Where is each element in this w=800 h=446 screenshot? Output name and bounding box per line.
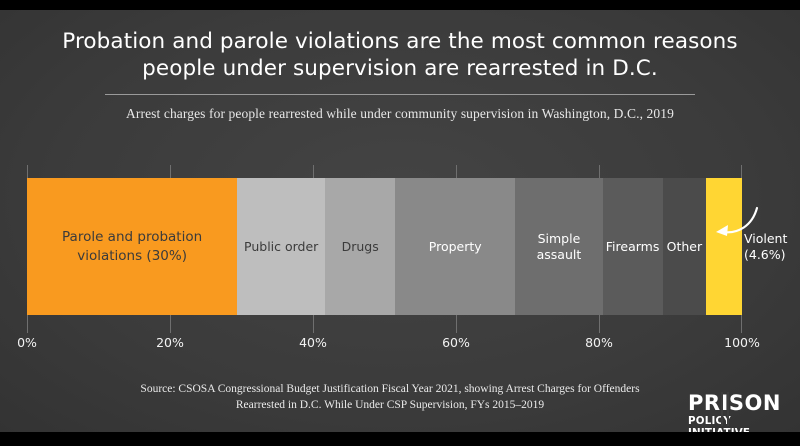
bar-segment-public-order[interactable]: Public order [237, 178, 325, 315]
logo-bar-icon-1 [721, 392, 723, 426]
annotation-label: Violent (4.6%) [744, 231, 787, 263]
axis-label-100%: 100% [724, 335, 760, 350]
axis-tick-mark-20% [170, 315, 171, 333]
bar-segment-label: Firearms [603, 239, 663, 255]
bar-segment-parole-and-probation-violations[interactable]: Parole and probation violations (30%) [27, 178, 237, 315]
bar-segment-label: Simple assault [534, 231, 585, 263]
bar-segment-label: Property [426, 239, 485, 255]
page-title: Probation and parole violations are the … [0, 28, 800, 82]
axis-label-0%: 0% [17, 335, 37, 350]
plot-area: Parole and probation violations (30%)Pub… [27, 165, 742, 315]
chart-canvas: Probation and parole violations are the … [0, 10, 800, 432]
bar-segment-label: Other [664, 239, 706, 255]
axis-tick-mark-80% [599, 315, 600, 333]
logo-wordmark-top-text: PRISON [688, 391, 781, 415]
bar-segment-simple-assault[interactable]: Simple assault [515, 178, 602, 315]
logo-bar-icon-2 [727, 392, 729, 426]
bar-segment-drugs[interactable]: Drugs [325, 178, 395, 315]
x-axis: 0%20%40%60%80%100% [0, 315, 800, 355]
chart-subtitle: Arrest charges for people rearrested whi… [0, 106, 800, 122]
bar-segment-label: Public order [241, 239, 321, 255]
bar-segment-label: Drugs [339, 239, 382, 255]
axis-tick-mark-40% [313, 315, 314, 333]
chart-header: Probation and parole violations are the … [0, 28, 800, 122]
prison-policy-initiative-logo: PRISON POLICY INITIATIVE [688, 393, 788, 427]
source-note: Source: CSOSA Congressional Budget Justi… [120, 382, 660, 413]
logo-wordmark-top: PRISON [688, 393, 788, 414]
axis-label-20%: 20% [156, 335, 184, 350]
axis-tick-mark-0% [27, 315, 28, 333]
bar-segment-label: Parole and probation violations (30%) [59, 228, 205, 266]
bar-segment-property[interactable]: Property [395, 178, 515, 315]
axis-label-80%: 80% [585, 335, 613, 350]
chart-page: Probation and parole violations are the … [0, 0, 800, 446]
bar-segment-other[interactable]: Other [663, 178, 707, 315]
axis-label-60%: 60% [442, 335, 470, 350]
bar-segment-violent[interactable] [706, 178, 742, 315]
axis-tick-mark-100% [741, 315, 742, 333]
letterbox-bottom [0, 432, 800, 446]
bar-segment-firearms[interactable]: Firearms [603, 178, 663, 315]
axis-label-40%: 40% [299, 335, 327, 350]
violent-annotation: Violent (4.6%) [740, 206, 800, 268]
letterbox-top [0, 0, 800, 10]
stacked-bar: Parole and probation violations (30%)Pub… [27, 178, 742, 315]
title-divider [105, 94, 695, 95]
axis-tick-mark-60% [456, 315, 457, 333]
